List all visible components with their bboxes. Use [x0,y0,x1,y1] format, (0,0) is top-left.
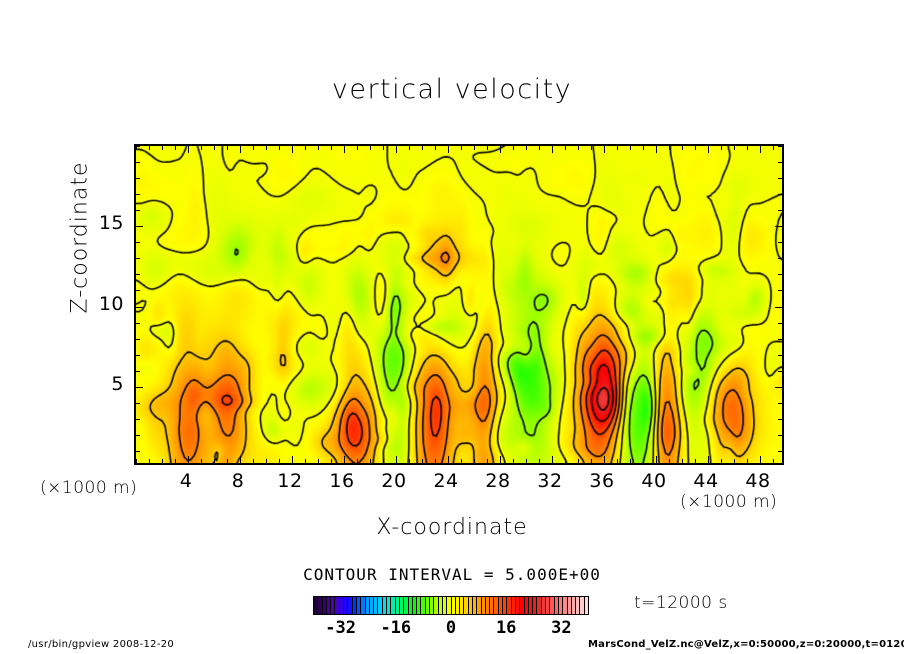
x-axis-minor-tick [539,146,540,150]
x-axis-minor-tick [227,146,228,150]
x-axis-minor-tick [331,459,332,463]
x-axis-tick [396,456,397,463]
x-axis-minor-tick [591,146,592,150]
x-axis-tick [552,146,553,153]
x-axis-minor-tick [630,459,631,463]
y-axis-minor-tick [136,339,140,340]
x-axis-minor-tick [773,459,774,463]
y-axis-minor-tick [778,323,782,324]
colorbar-tick-label: 16 [476,618,536,638]
x-axis-minor-tick [487,146,488,150]
y-axis-minor-tick [136,403,140,404]
y-axis-minor-tick [778,162,782,163]
x-axis-minor-tick [630,146,631,150]
y-axis-tick [136,226,143,227]
x-axis-tick [188,146,189,153]
y-axis-tick [775,307,782,308]
x-axis-minor-tick [474,146,475,150]
x-axis-minor-tick [721,146,722,150]
x-axis-minor-tick [201,146,202,150]
x-axis-tick-label: 28 [473,470,523,492]
x-axis-minor-tick [318,459,319,463]
y-axis-minor-tick [136,242,140,243]
y-axis-minor-tick [136,435,140,436]
x-axis-tick [240,146,241,153]
x-axis-minor-tick [214,146,215,150]
x-axis-minor-tick [461,146,462,150]
x-axis-minor-tick [526,146,527,150]
x-axis-minor-tick [461,459,462,463]
x-axis-minor-tick [175,146,176,150]
y-axis-minor-tick [136,323,140,324]
x-axis-minor-tick [747,146,748,150]
x-axis-minor-tick [513,459,514,463]
x-axis-minor-tick [695,146,696,150]
y-axis-units: (×1000 m) [40,478,137,498]
x-axis-minor-tick [331,146,332,150]
y-axis-minor-tick [136,146,140,147]
y-axis-minor-tick [136,419,140,420]
x-axis-tick [604,456,605,463]
x-axis-minor-tick [409,459,410,463]
x-axis-tick [344,456,345,463]
x-axis-minor-tick [370,146,371,150]
x-axis-minor-tick [734,146,735,150]
x-axis-tick-label: 40 [629,470,679,492]
x-axis-minor-tick [162,459,163,463]
x-axis-tick [188,456,189,463]
x-axis-tick [552,456,553,463]
plot-area [134,144,784,465]
x-axis-minor-tick [565,459,566,463]
x-axis-minor-tick [773,146,774,150]
x-axis-tick-label: 24 [421,470,471,492]
x-axis-minor-tick [357,146,358,150]
colorbar-tick-label: 32 [531,618,591,638]
colorbar-tick-label: -32 [311,618,371,638]
x-axis-tick [604,146,605,153]
x-axis-minor-tick [578,459,579,463]
contour-interval-label: CONTOUR INTERVAL = 5.000E+00 [0,565,904,584]
x-axis-minor-tick [539,459,540,463]
x-axis-tick [292,146,293,153]
x-axis-tick [760,146,761,153]
y-axis-minor-tick [136,451,140,452]
x-axis-tick-label: 36 [577,470,627,492]
x-axis-minor-tick [279,459,280,463]
colorbar-tick-label: 0 [421,618,481,638]
y-axis-minor-tick [778,355,782,356]
y-axis-minor-tick [778,435,782,436]
x-axis-tick [656,456,657,463]
y-axis-minor-tick [136,355,140,356]
x-axis-tick-label: 8 [213,470,263,492]
x-axis-minor-tick [383,146,384,150]
footer-dataset-info: MarsCond_VelZ.nc@VelZ,x=0:50000,z=0:2000… [588,639,904,650]
x-axis-minor-tick [669,459,670,463]
x-axis-minor-tick [617,146,618,150]
y-axis-minor-tick [778,274,782,275]
y-axis-minor-tick [136,290,140,291]
x-axis-minor-tick [526,459,527,463]
x-axis-minor-tick [682,146,683,150]
footer-command-info: /usr/bin/gpview 2008-12-20 [28,639,174,650]
y-axis-minor-tick [136,210,140,211]
y-axis-minor-tick [778,403,782,404]
x-axis-minor-tick [383,459,384,463]
x-axis-minor-tick [565,146,566,150]
x-axis-tick [292,456,293,463]
colorbar-tick-labels: -32-1601632 [313,618,589,640]
x-axis-minor-tick [201,459,202,463]
x-axis-minor-tick [175,459,176,463]
y-axis-minor-tick [136,258,140,259]
y-axis-tick [775,387,782,388]
x-axis-minor-tick [227,459,228,463]
y-axis-tick [775,226,782,227]
x-axis-tick-label: 32 [525,470,575,492]
x-axis-minor-tick [266,459,267,463]
x-axis-tick-label: 12 [265,470,315,492]
y-axis-minor-tick [778,194,782,195]
y-axis-minor-tick [778,178,782,179]
y-axis-minor-tick [778,242,782,243]
x-axis-minor-tick [253,146,254,150]
x-axis-minor-tick [422,146,423,150]
x-axis-minor-tick [617,459,618,463]
x-axis-tick [708,146,709,153]
colorbar [313,596,589,615]
x-axis-minor-tick [305,146,306,150]
x-axis-minor-tick [513,146,514,150]
x-axis-minor-tick [682,459,683,463]
x-axis-minor-tick [318,146,319,150]
x-axis-minor-tick [422,459,423,463]
x-axis-tick [656,146,657,153]
x-axis-minor-tick [136,459,137,463]
y-axis-minor-tick [778,339,782,340]
x-axis-minor-tick [643,459,644,463]
y-axis-minor-tick [136,194,140,195]
page-title: vertical velocity [0,74,904,105]
x-axis-tick [240,456,241,463]
y-axis-minor-tick [778,371,782,372]
x-axis-minor-tick [721,459,722,463]
y-axis-minor-tick [778,258,782,259]
y-axis-minor-tick [778,419,782,420]
x-axis-minor-tick [305,459,306,463]
x-axis-minor-tick [266,146,267,150]
time-annotation: t=12000 s [634,593,728,613]
x-axis-title: X-coordinate [0,515,904,540]
y-axis-minor-tick [778,210,782,211]
x-axis-minor-tick [149,146,150,150]
x-axis-tick-label: 44 [681,470,731,492]
x-axis-minor-tick [643,146,644,150]
y-axis-minor-tick [136,371,140,372]
y-axis-tick [136,307,143,308]
x-axis-units: (×1000 m) [680,492,777,512]
y-axis-minor-tick [136,274,140,275]
x-axis-minor-tick [357,459,358,463]
x-axis-minor-tick [370,459,371,463]
y-axis-tick-label: 5 [84,373,124,395]
x-axis-tick [448,146,449,153]
x-axis-minor-tick [409,146,410,150]
y-axis-minor-tick [778,146,782,147]
y-axis-title: Z-coordinate [68,128,93,348]
x-axis-tick-label: 48 [733,470,783,492]
colorbar-cell [585,597,588,614]
x-axis-minor-tick [578,146,579,150]
x-axis-minor-tick [669,146,670,150]
x-axis-tick [760,456,761,463]
x-axis-tick [396,146,397,153]
x-axis-minor-tick [279,146,280,150]
colorbar-tick-label: -16 [366,618,426,638]
x-axis-minor-tick [435,146,436,150]
y-axis-minor-tick [136,162,140,163]
x-axis-minor-tick [734,459,735,463]
x-axis-minor-tick [253,459,254,463]
x-axis-tick [344,146,345,153]
x-axis-minor-tick [435,459,436,463]
x-axis-tick-label: 4 [161,470,211,492]
x-axis-minor-tick [162,146,163,150]
x-axis-tick [500,456,501,463]
x-axis-minor-tick [695,459,696,463]
x-axis-minor-tick [747,459,748,463]
x-axis-minor-tick [487,459,488,463]
x-axis-minor-tick [474,459,475,463]
x-axis-minor-tick [214,459,215,463]
x-axis-tick [708,456,709,463]
x-axis-minor-tick [591,459,592,463]
y-axis-tick [136,387,143,388]
contour-field-canvas [136,146,782,463]
x-axis-tick-label: 20 [369,470,419,492]
x-axis-tick [500,146,501,153]
x-axis-minor-tick [149,459,150,463]
x-axis-tick [448,456,449,463]
y-axis-minor-tick [136,178,140,179]
y-axis-minor-tick [778,451,782,452]
x-axis-tick-label: 16 [317,470,367,492]
y-axis-minor-tick [778,290,782,291]
